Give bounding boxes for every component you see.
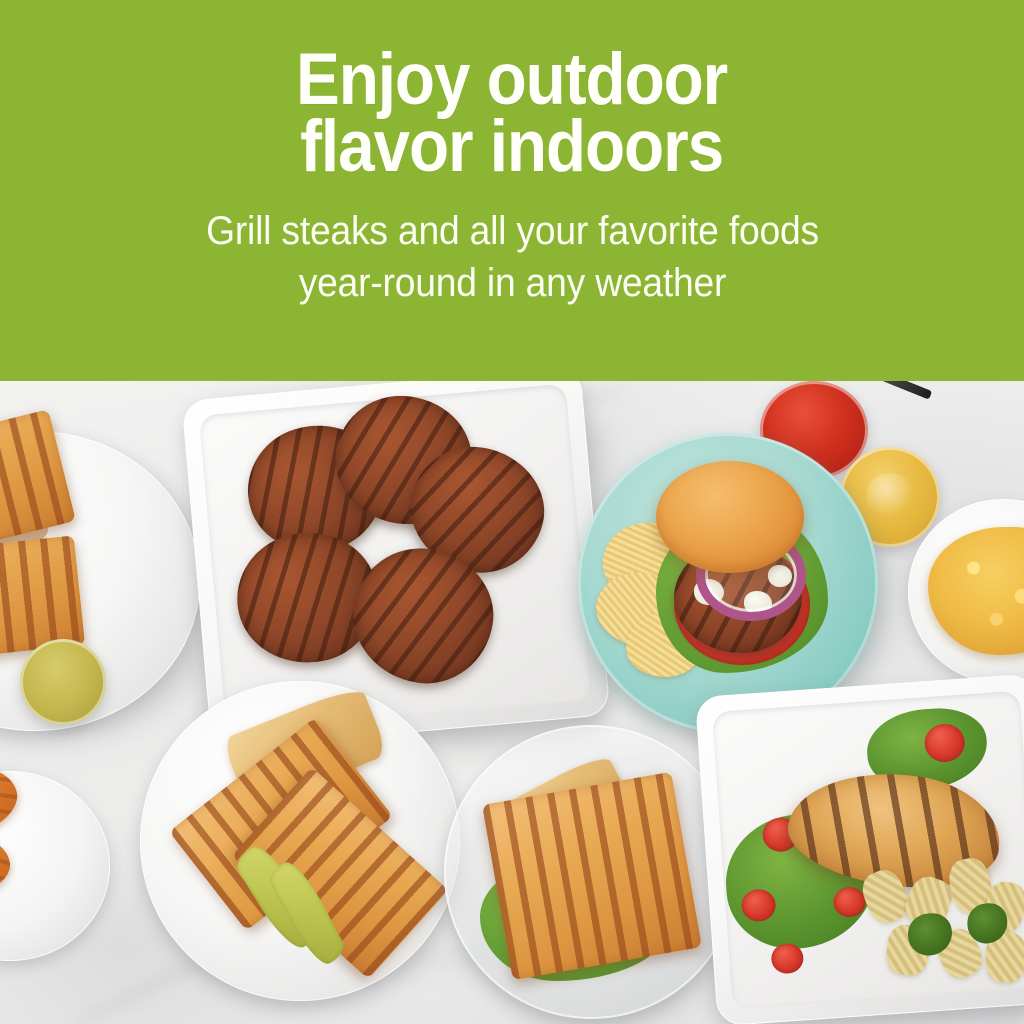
mac-and-cheese xyxy=(928,527,1024,655)
panini-sandwich xyxy=(482,772,702,981)
page-subtitle: Grill steaks and all your favorite foods… xyxy=(206,180,819,308)
grilled-squash-slice xyxy=(0,756,26,852)
promo-banner: Enjoy outdoor flavor indoors Grill steak… xyxy=(0,0,1024,381)
panini-glass-plate xyxy=(444,725,738,1019)
grilled-squash-slice xyxy=(0,830,14,903)
grilled-squash-bowl xyxy=(0,771,110,961)
mustard-ramekin-left xyxy=(20,639,106,725)
page-title: Enjoy outdoor flavor indoors xyxy=(296,46,727,180)
burger-bun-top xyxy=(656,461,804,573)
mustard-swirl xyxy=(866,473,914,517)
grilled-chicken-platter xyxy=(695,674,1024,1024)
promo-card: Enjoy outdoor flavor indoors Grill steak… xyxy=(0,0,1024,1024)
panini-halves-plate xyxy=(140,681,460,1001)
food-photograph xyxy=(0,381,1024,1024)
